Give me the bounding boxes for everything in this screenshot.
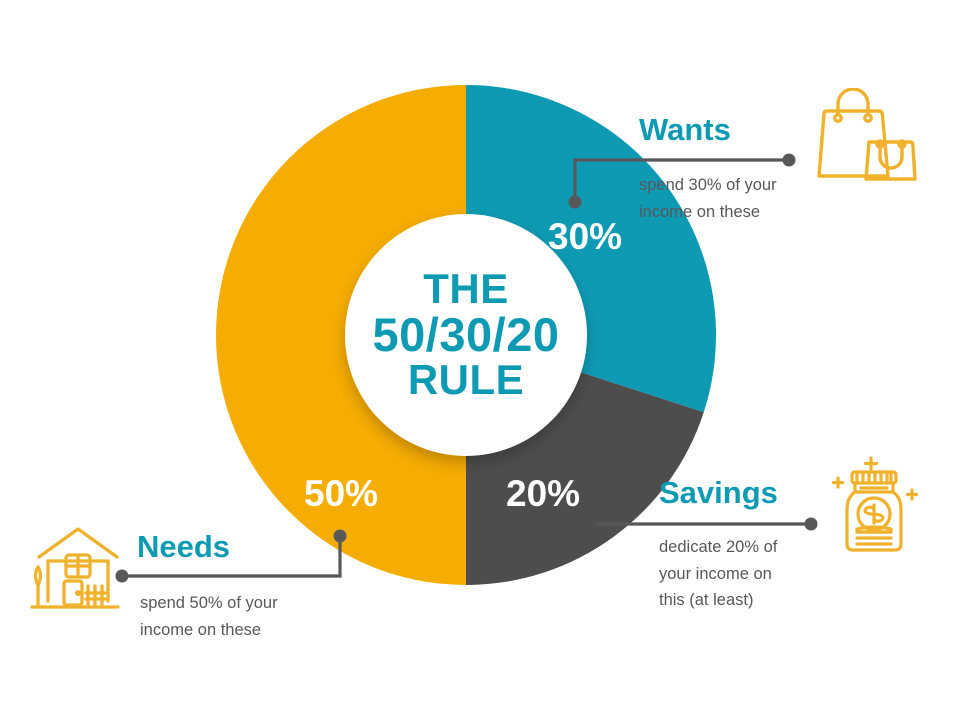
donut-chart-svg [216, 85, 716, 585]
house-icon [26, 523, 124, 615]
infographic-canvas: THE 50/30/20 RULE 30% 50% 20% Wants spen… [0, 0, 961, 720]
callout-title-wants: Wants [639, 112, 731, 148]
connector-dot-wants-text [783, 154, 796, 167]
callout-title-needs: Needs [137, 529, 230, 565]
callout-body-needs: spend 50% of your income on these [140, 590, 330, 643]
money-jar-icon [824, 452, 924, 562]
callout-body-savings: dedicate 20% of your income on this (at … [659, 534, 824, 614]
callout-title-savings: Savings [659, 475, 778, 511]
callout-body-wants: spend 30% of your income on these [639, 172, 819, 225]
donut-center-circle [345, 214, 587, 456]
connector-dot-savings-text [805, 518, 818, 531]
donut-chart [216, 85, 716, 585]
shopping-bags-icon [814, 88, 918, 186]
